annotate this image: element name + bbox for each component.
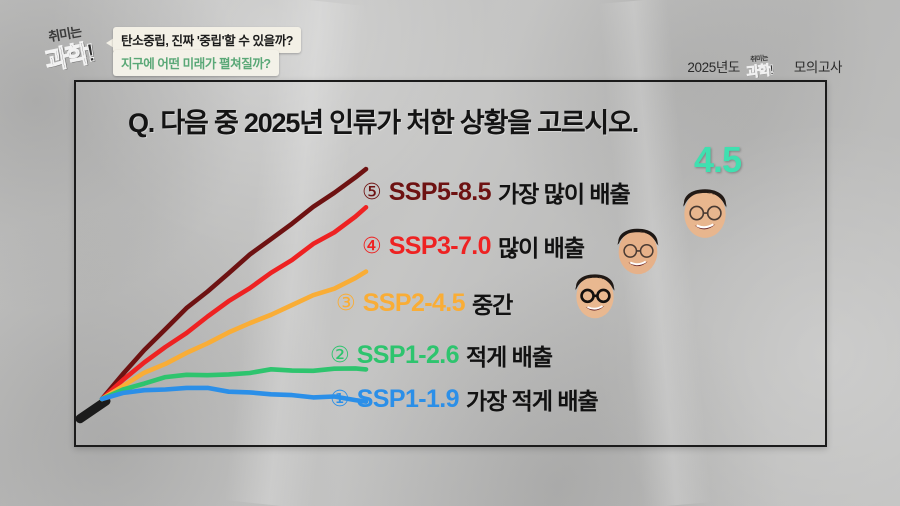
chart-line-ssp1-1.9 — [102, 388, 366, 402]
option-3[interactable]: ③SSP2-4.5중간 — [336, 286, 512, 320]
option-code: SSP2-4.5 — [363, 289, 465, 318]
show-logo: 취미는 과학! — [41, 18, 119, 78]
option-number: ⑤ — [362, 181, 382, 203]
panelist-face-3 — [567, 266, 623, 322]
handwritten-annotation: 4.5 — [694, 139, 741, 181]
option-2[interactable]: ②SSP1-2.6적게 배출 — [330, 338, 552, 372]
chart-line-group — [80, 169, 366, 419]
chart-line-historical — [80, 401, 106, 419]
option-description: 많이 배출 — [498, 229, 584, 263]
option-5[interactable]: ⑤SSP5-8.5가장 많이 배출 — [362, 175, 630, 209]
exam-label: 모의고사 — [794, 56, 842, 76]
option-number: ③ — [336, 292, 356, 314]
screenshot-stage: 취미는 과학! 탄소중립, 진짜 '중립'할 수 있을까? 지구에 어떤 미래가… — [0, 0, 900, 506]
exam-header-logo: 취미는 과학! — [744, 53, 790, 79]
option-code: SSP1-1.9 — [357, 385, 459, 414]
exam-year: 2025년도 — [687, 56, 739, 76]
show-logo-line2: 과학! — [42, 33, 96, 78]
option-code: SSP1-2.6 — [357, 341, 459, 370]
option-description: 가장 적게 배출 — [466, 382, 598, 416]
option-code: SSP5-8.5 — [389, 178, 491, 207]
panelist-face-2 — [609, 220, 667, 278]
option-number: ② — [330, 344, 350, 366]
exam-header-logo-line2: 과학! — [745, 59, 773, 82]
option-description: 적게 배출 — [466, 338, 552, 372]
panelist-face-1 — [674, 180, 736, 242]
chart-line-ssp2-4.5 — [102, 272, 366, 399]
exam-header: 2025년도 취미는 과학! 모의고사 — [687, 55, 842, 77]
option-code: SSP3-7.0 — [389, 232, 491, 261]
caption-secondary: 지구에 어떤 미래가 펼쳐질까? — [113, 50, 279, 76]
option-4[interactable]: ④SSP3-7.0많이 배출 — [362, 229, 584, 263]
option-description: 가장 많이 배출 — [498, 175, 630, 209]
option-number: ① — [330, 388, 350, 410]
question-board: Q. 다음 중 2025년 인류가 처한 상황을 고르시오. 4.5 ⑤SSP5… — [74, 80, 827, 447]
option-description: 중간 — [472, 286, 512, 320]
option-number: ④ — [362, 235, 382, 257]
option-1[interactable]: ①SSP1-1.9가장 적게 배출 — [330, 382, 598, 416]
